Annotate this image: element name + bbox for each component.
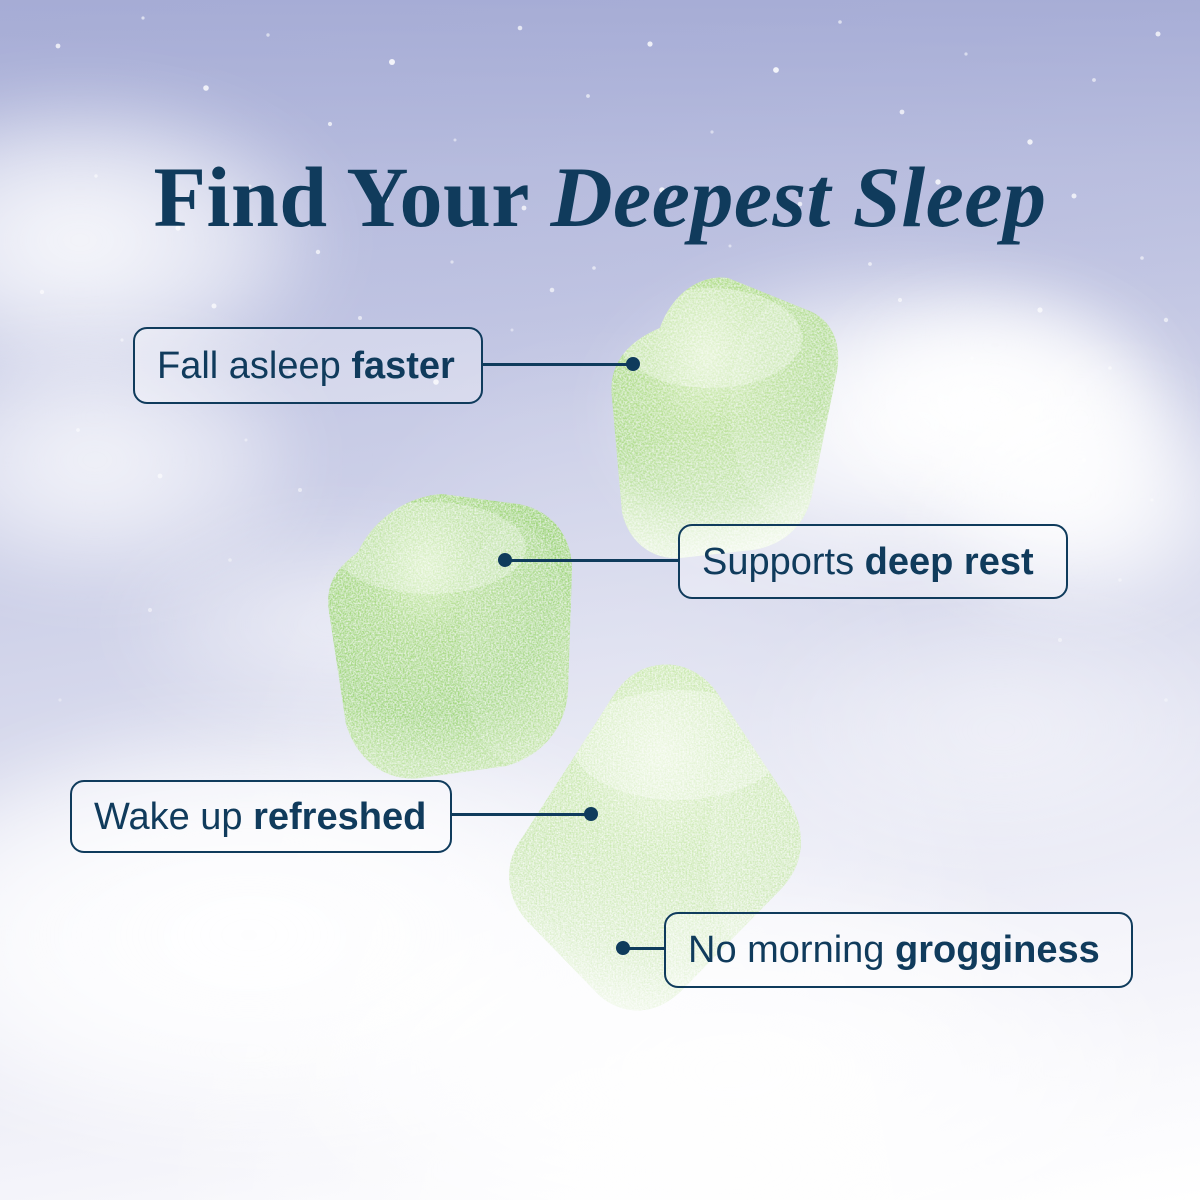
callout-bold-text-1: faster [351,345,455,387]
leader-dot-wake-up-refreshed [584,807,598,821]
callout-plain-text-2: Supports [702,541,865,583]
page-title: Find Your Deepest Sleep [0,154,1200,240]
page-title-italic: Deepest Sleep [550,149,1046,245]
leader-line-wake-up-refreshed [452,813,589,816]
callout-label-fall-asleep-faster: Fall asleep faster [157,347,455,385]
callout-bold-text-3: refreshed [253,796,426,838]
callout-bold-text-4: grogginess [895,929,1100,971]
callout-fall-asleep-faster[interactable]: Fall asleep faster [133,327,483,404]
callout-bold-text-2: deep rest [865,541,1034,583]
callout-no-morning-grogginess[interactable]: No morning grogginess [664,912,1133,988]
callout-plain-text-3: Wake up [94,796,253,838]
callout-label-no-morning-grogginess: No morning grogginess [688,931,1100,969]
leader-line-fall-asleep-faster [483,363,633,366]
leader-line-no-morning-grogginess [623,947,666,950]
callout-label-wake-up-refreshed: Wake up refreshed [94,798,426,836]
leader-line-supports-deep-rest [505,559,680,562]
page-title-regular: Find Your [154,149,551,245]
callout-plain-text-4: No morning [688,929,895,971]
sleep-gummies-promo-graphic: Find Your Deepest Sleep Fall asleep fast… [0,0,1200,1200]
leader-dot-fall-asleep-faster [626,357,640,371]
callout-plain-text-1: Fall asleep [157,345,351,387]
callout-supports-deep-rest[interactable]: Supports deep rest [678,524,1068,599]
callout-wake-up-refreshed[interactable]: Wake up refreshed [70,780,452,853]
callout-label-supports-deep-rest: Supports deep rest [702,543,1034,581]
